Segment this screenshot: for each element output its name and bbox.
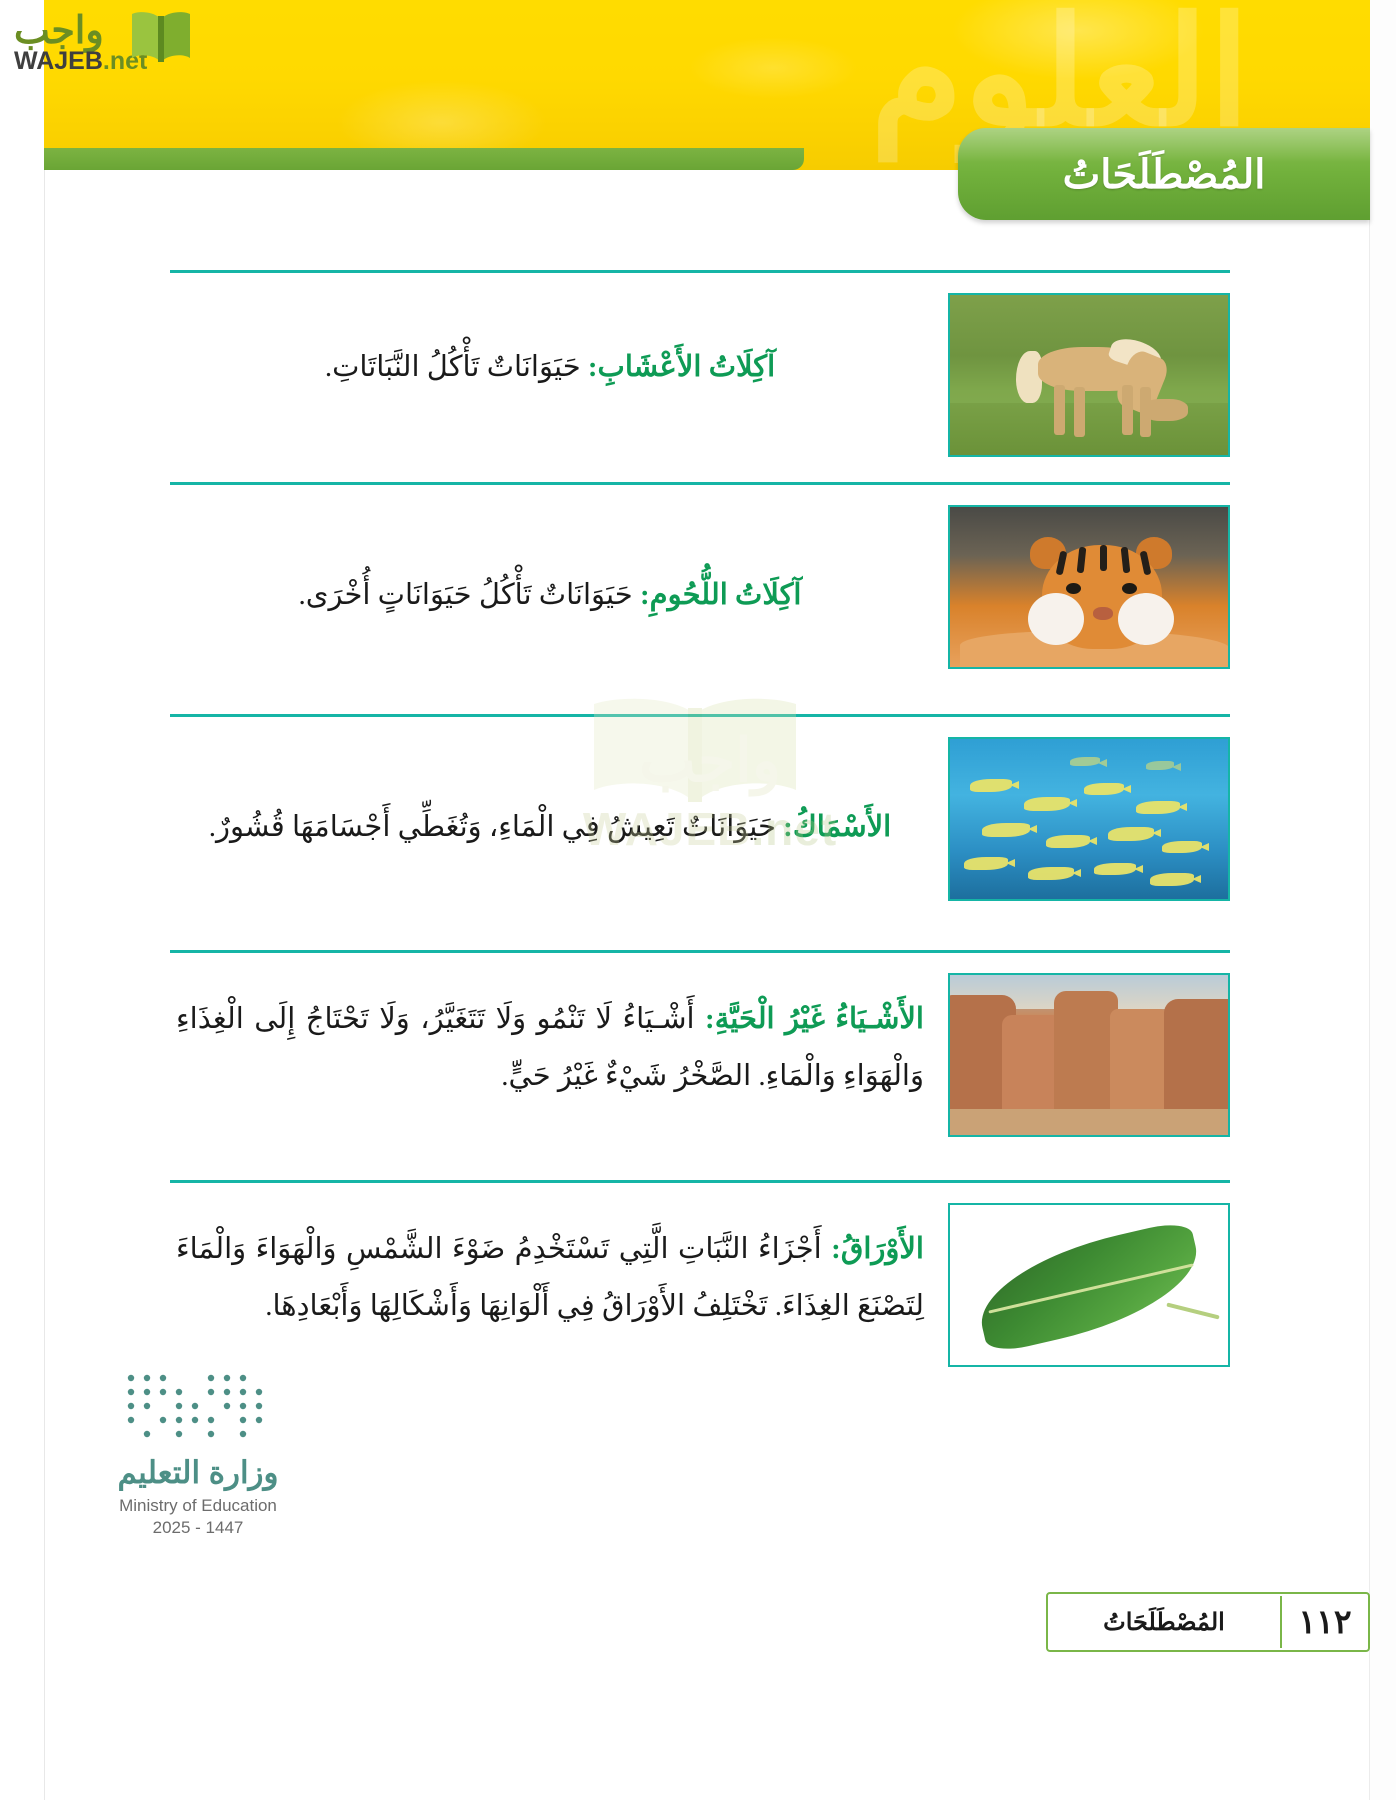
glossary-term: الأَوْرَاقُ: [831,1233,924,1265]
banner-green-strip [44,148,804,170]
entry-body: آكِلَاتُ اللُّحُومِ: حَيَوَانَاتٌ تَأْكُ… [170,485,1230,669]
tiger-eye-left [1066,583,1081,594]
tiger-eye-right [1122,583,1137,594]
entry-text: الأَسْمَاكُ: حَيَوَانَاتٌ تَعِيشُ فِي ال… [170,737,924,856]
rock-formation-photo [948,973,1230,1137]
wajeb-watermark-logo: واجب WAJEB.net [8,4,188,66]
horse-leg [1140,387,1151,437]
entry-text: آكِلَاتُ اللُّحُومِ: حَيَوَانَاتٌ تَأْكُ… [170,505,924,624]
tiger-photo [948,505,1230,669]
tiger-cheek-right [1118,593,1174,645]
page-left-margin [0,0,45,1800]
ministry-of-education-logo: وزارة التعليم Ministry of Education 2025… [78,1370,318,1538]
green-leaf-photo [948,1203,1230,1367]
ministry-year: 2025 - 1447 [78,1518,318,1538]
horse-leg [1074,387,1085,437]
page-section-label: المُصْطَلَحَاتُ [1048,1608,1280,1637]
glossary-term: آكِلَاتُ الأَعْشَابِ: [588,351,775,383]
moe-dot-matrix-icon [123,1370,273,1442]
glossary-definition: أَجْزَاءُ النَّبَاتِ الَّتِي تَسْتَخْدِم… [176,1233,924,1322]
school-of-fish-photo [948,737,1230,901]
horse-leg [1054,385,1065,435]
page-right-margin [1369,0,1396,1800]
glossary-definition: حَيَوَانَاتٌ تَأْكُلُ حَيَوَانَاتٍ أُخْر… [299,579,640,611]
tiger-cheek-left [1028,593,1084,645]
glossary-definition: حَيَوَانَاتٌ تَعِيشُ فِي الْمَاءِ، وَتُغ… [209,811,783,843]
glossary-entry: آكِلَاتُ اللُّحُومِ: حَيَوَانَاتٌ تَأْكُ… [170,482,1230,714]
glossary-term: آكِلَاتُ اللُّحُومِ: [640,579,802,611]
page-title: المُصْطَلَحَاتُ [1063,151,1266,198]
ministry-english-name: Ministry of Education [78,1496,318,1516]
entry-text: الأَشْـيَاءُ غَيْرُ الْحَيَّةِ: أَشْـيَا… [170,973,924,1104]
ministry-arabic-name: وزارة التعليم [78,1455,318,1491]
entry-text: آكِلَاتُ الأَعْشَابِ: حَيَوَانَاتٌ تَأْك… [170,293,924,396]
ground-layer [950,1109,1228,1135]
entry-body: الأَشْـيَاءُ غَيْرُ الْحَيَّةِ: أَشْـيَا… [170,953,1230,1137]
entry-body: آكِلَاتُ الأَعْشَابِ: حَيَوَانَاتٌ تَأْك… [170,273,1230,457]
tiger-nose [1093,607,1113,620]
page-number: ١١٢ [1280,1596,1368,1648]
glossary-definition: حَيَوَانَاتٌ تَأْكُلُ النَّبَاتَاتِ. [325,351,588,383]
glossary-entry: الأَسْمَاكُ: حَيَوَانَاتٌ تَعِيشُ فِي ال… [170,714,1230,950]
entry-text: الأَوْرَاقُ: أَجْزَاءُ النَّبَاتِ الَّتِ… [170,1203,924,1334]
open-book-icon [126,6,196,68]
glossary-entry: آكِلَاتُ الأَعْشَابِ: حَيَوَانَاتٌ تَأْك… [170,270,1230,482]
glossary-term: الأَسْمَاكُ: [783,811,891,843]
glossary-term: الأَشْـيَاءُ غَيْرُ الْحَيَّةِ: [705,1003,924,1035]
leaf-stem [1166,1303,1219,1320]
entry-body: الأَوْرَاقُ: أَجْزَاءُ النَّبَاتِ الَّتِ… [170,1183,1230,1367]
glossary-list: آكِلَاتُ الأَعْشَابِ: حَيَوَانَاتٌ تَأْك… [170,270,1230,1412]
textbook-page: العلوم المُصْطَلَحَاتُ واجب WAJEB.net وا… [0,0,1396,1800]
page-footer-bar: ١١٢ المُصْطَلَحَاتُ [1046,1592,1370,1652]
horse-grazing-photo [948,293,1230,457]
page-title-tab: المُصْطَلَحَاتُ [958,128,1370,220]
entry-body: الأَسْمَاكُ: حَيَوَانَاتٌ تَعِيشُ فِي ال… [170,717,1230,901]
horse-leg [1122,385,1133,435]
glossary-entry: الأَوْرَاقُ: أَجْزَاءُ النَّبَاتِ الَّتِ… [170,1180,1230,1412]
glossary-entry: الأَشْـيَاءُ غَيْرُ الْحَيَّةِ: أَشْـيَا… [170,950,1230,1180]
